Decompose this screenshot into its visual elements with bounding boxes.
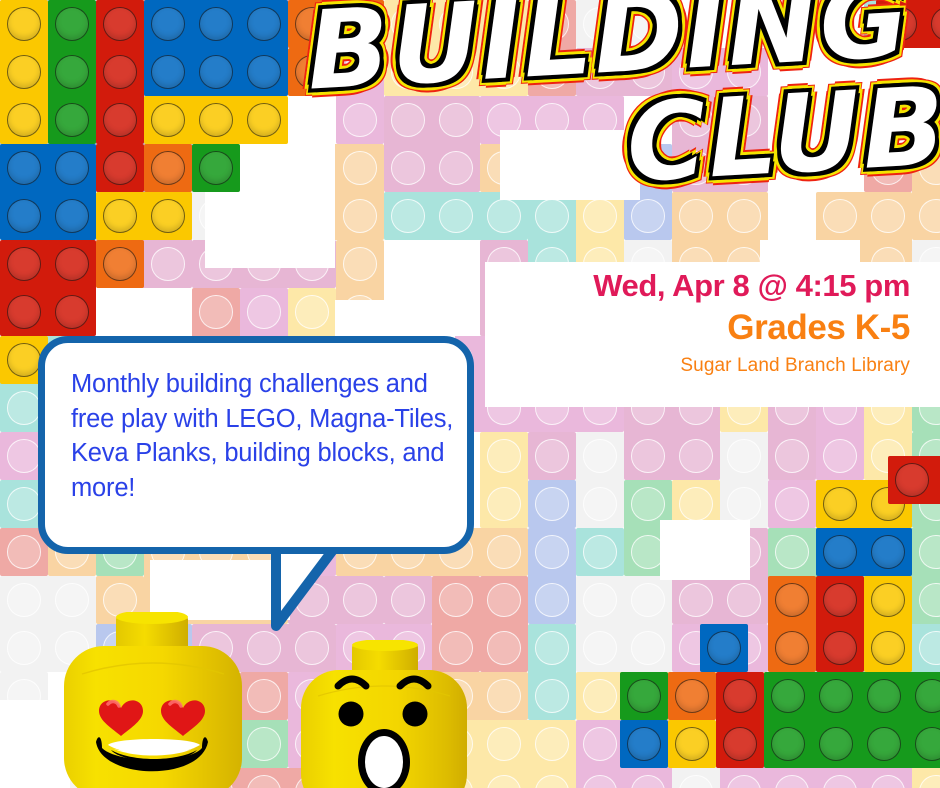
brick-stud — [295, 7, 329, 41]
brick — [864, 576, 912, 672]
brick — [0, 0, 48, 144]
brick-stud — [103, 199, 137, 233]
brick-stud — [103, 103, 137, 137]
brick-stud — [151, 103, 185, 137]
brick-stud — [823, 583, 857, 617]
brick — [0, 240, 96, 336]
brick-stud — [819, 727, 853, 761]
speech-bubble-text: Monthly building challenges and free pla… — [71, 367, 461, 506]
brick — [288, 48, 336, 96]
brick-stud — [895, 463, 929, 497]
brick-stud — [771, 679, 805, 713]
brick-stud — [55, 199, 89, 233]
brick — [668, 720, 716, 768]
brick — [816, 576, 864, 672]
brick — [620, 672, 668, 720]
brick — [144, 144, 192, 192]
brick-stud — [103, 55, 137, 89]
brick-stud — [771, 727, 805, 761]
brick-stud — [151, 151, 185, 185]
event-grades: Grades K-5 — [490, 306, 910, 350]
brick — [144, 0, 288, 96]
brick — [700, 624, 748, 672]
heart-eyes-head — [58, 612, 248, 788]
brick-stud — [7, 343, 41, 377]
brick-stud — [775, 631, 809, 665]
brick-stud — [883, 7, 917, 41]
brick-stud — [627, 679, 661, 713]
brick — [96, 0, 144, 144]
brick-stud — [7, 199, 41, 233]
brick-stud — [55, 295, 89, 329]
brick — [716, 672, 764, 768]
brick-stud — [723, 679, 757, 713]
brick-stud — [247, 103, 281, 137]
poster-canvas: BUILDING CLUB Wed, Apr 8 @ 4:15 pm Grade… — [0, 0, 940, 788]
brick-stud — [247, 55, 281, 89]
brick-stud — [823, 535, 857, 569]
surprised-head — [296, 640, 472, 788]
brick — [96, 192, 192, 240]
brick — [192, 144, 240, 192]
brick — [96, 144, 144, 192]
brick — [768, 576, 816, 672]
brick-stud — [199, 103, 233, 137]
brick-stud — [103, 247, 137, 281]
brick-stud — [7, 55, 41, 89]
event-info-block: Wed, Apr 8 @ 4:15 pm Grades K-5 Sugar La… — [490, 268, 910, 377]
brick-stud — [819, 679, 853, 713]
brick — [620, 720, 668, 768]
brick-stud — [627, 727, 661, 761]
brick — [0, 144, 96, 240]
brick-stud — [915, 679, 940, 713]
brick-stud — [823, 487, 857, 521]
brick-stud — [103, 7, 137, 41]
brick — [96, 240, 144, 288]
brick — [876, 0, 940, 48]
brick-stud — [823, 631, 857, 665]
brick-stud — [7, 151, 41, 185]
brick-stud — [675, 679, 709, 713]
brick-stud — [723, 727, 757, 761]
brick-stud — [151, 199, 185, 233]
brick — [288, 0, 384, 48]
brick-stud — [55, 103, 89, 137]
brick-stud — [7, 247, 41, 281]
brick-stud — [343, 7, 377, 41]
brick-stud — [103, 151, 137, 185]
brick — [144, 96, 288, 144]
brick-stud — [775, 583, 809, 617]
brick — [764, 672, 940, 768]
brick-stud — [247, 7, 281, 41]
brick-stud — [199, 151, 233, 185]
brick-stud — [7, 295, 41, 329]
brick — [888, 456, 940, 504]
brick-stud — [55, 55, 89, 89]
brick-stud — [55, 7, 89, 41]
brick — [816, 528, 912, 576]
event-date-time: Wed, Apr 8 @ 4:15 pm — [490, 268, 910, 304]
brick — [668, 672, 716, 720]
brick-stud — [867, 679, 901, 713]
brick-stud — [55, 151, 89, 185]
brick-stud — [55, 247, 89, 281]
brick-stud — [7, 7, 41, 41]
brick-stud — [871, 583, 905, 617]
brick — [48, 0, 96, 144]
brick-stud — [915, 727, 940, 761]
brick-stud — [867, 727, 901, 761]
brick-stud — [871, 631, 905, 665]
brick-stud — [707, 631, 741, 665]
brick-stud — [7, 103, 41, 137]
brick-stud — [295, 55, 329, 89]
speech-bubble: Monthly building challenges and free pla… — [38, 336, 474, 554]
brick-stud — [871, 535, 905, 569]
brick-stud — [151, 55, 185, 89]
brick-stud — [199, 7, 233, 41]
brick-stud — [151, 7, 185, 41]
event-location: Sugar Land Branch Library — [490, 355, 910, 377]
brick-stud — [199, 55, 233, 89]
brick-stud — [675, 727, 709, 761]
brick-stud — [931, 7, 940, 41]
